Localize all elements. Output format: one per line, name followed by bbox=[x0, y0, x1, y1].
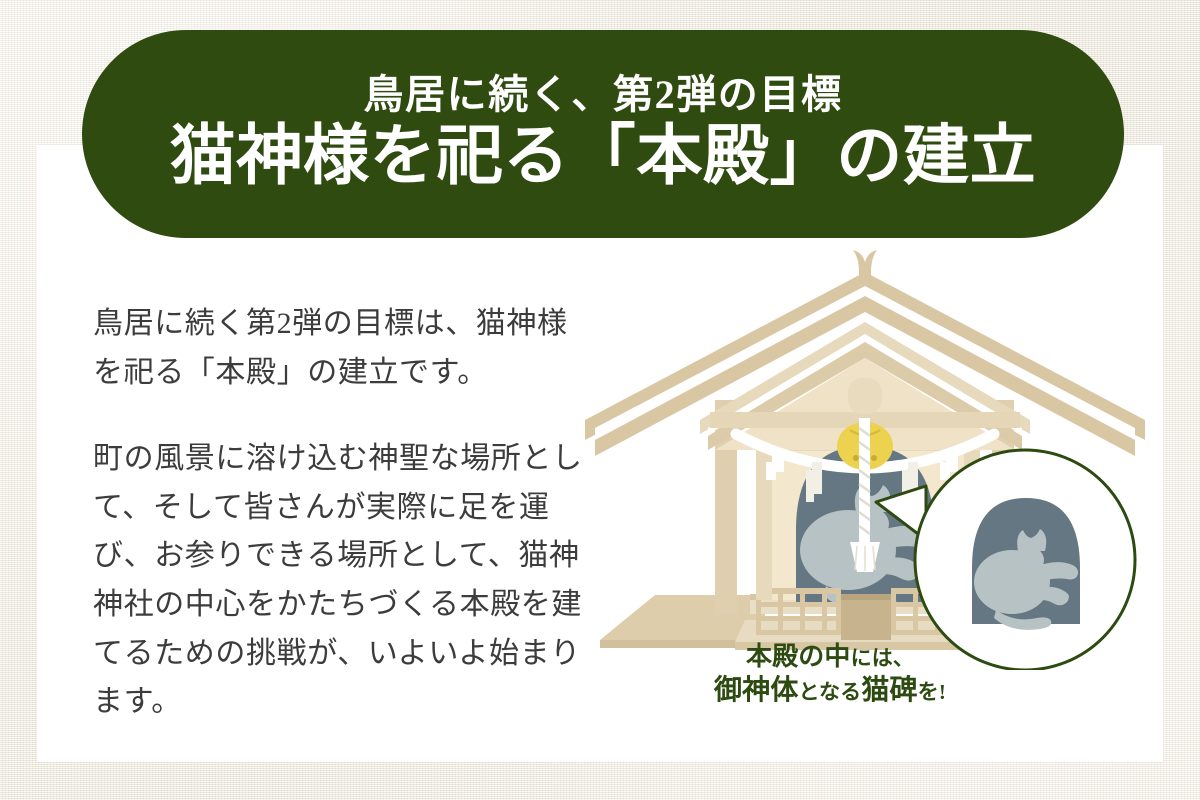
headline-title: 猫神様を祀る「本殿」の建立 bbox=[170, 121, 1037, 192]
shrine-illustration bbox=[560, 250, 1160, 670]
callout-caption: 本殿の中には、 御神体となる猫碑を! bbox=[640, 640, 1020, 709]
headline-subtitle: 鳥居に続く、第2弾の目標 bbox=[363, 75, 842, 115]
caption-line2-bold-b: 猫碑 bbox=[861, 675, 917, 706]
headline-banner: 鳥居に続く、第2弾の目標 猫神様を祀る「本殿」の建立 bbox=[82, 30, 1124, 238]
caption-line-2: 御神体となる猫碑を! bbox=[640, 673, 1020, 709]
body-paragraph-2: 町の風景に溶け込む神聖な場所として、そして皆さんが実際に足を運び、お参りできる場… bbox=[93, 435, 593, 727]
body-paragraph-1: 鳥居に続く第2弾の目標は、猫神様を祀る「本殿」の建立です。 bbox=[93, 300, 593, 397]
caption-line1-bold: 本殿の中 bbox=[746, 642, 851, 671]
caption-line2-bold: 御神体 bbox=[714, 675, 798, 706]
caption-line1-small: には、 bbox=[851, 646, 914, 670]
body-copy: 鳥居に続く第2弾の目標は、猫神様を祀る「本殿」の建立です。 町の風景に溶け込む神… bbox=[93, 300, 593, 727]
caption-line-1: 本殿の中には、 bbox=[640, 640, 1020, 673]
offering-box-icon bbox=[841, 594, 891, 640]
caption-line2-small-a: となる bbox=[798, 680, 861, 704]
caption-line2-small-b: を! bbox=[918, 680, 946, 704]
